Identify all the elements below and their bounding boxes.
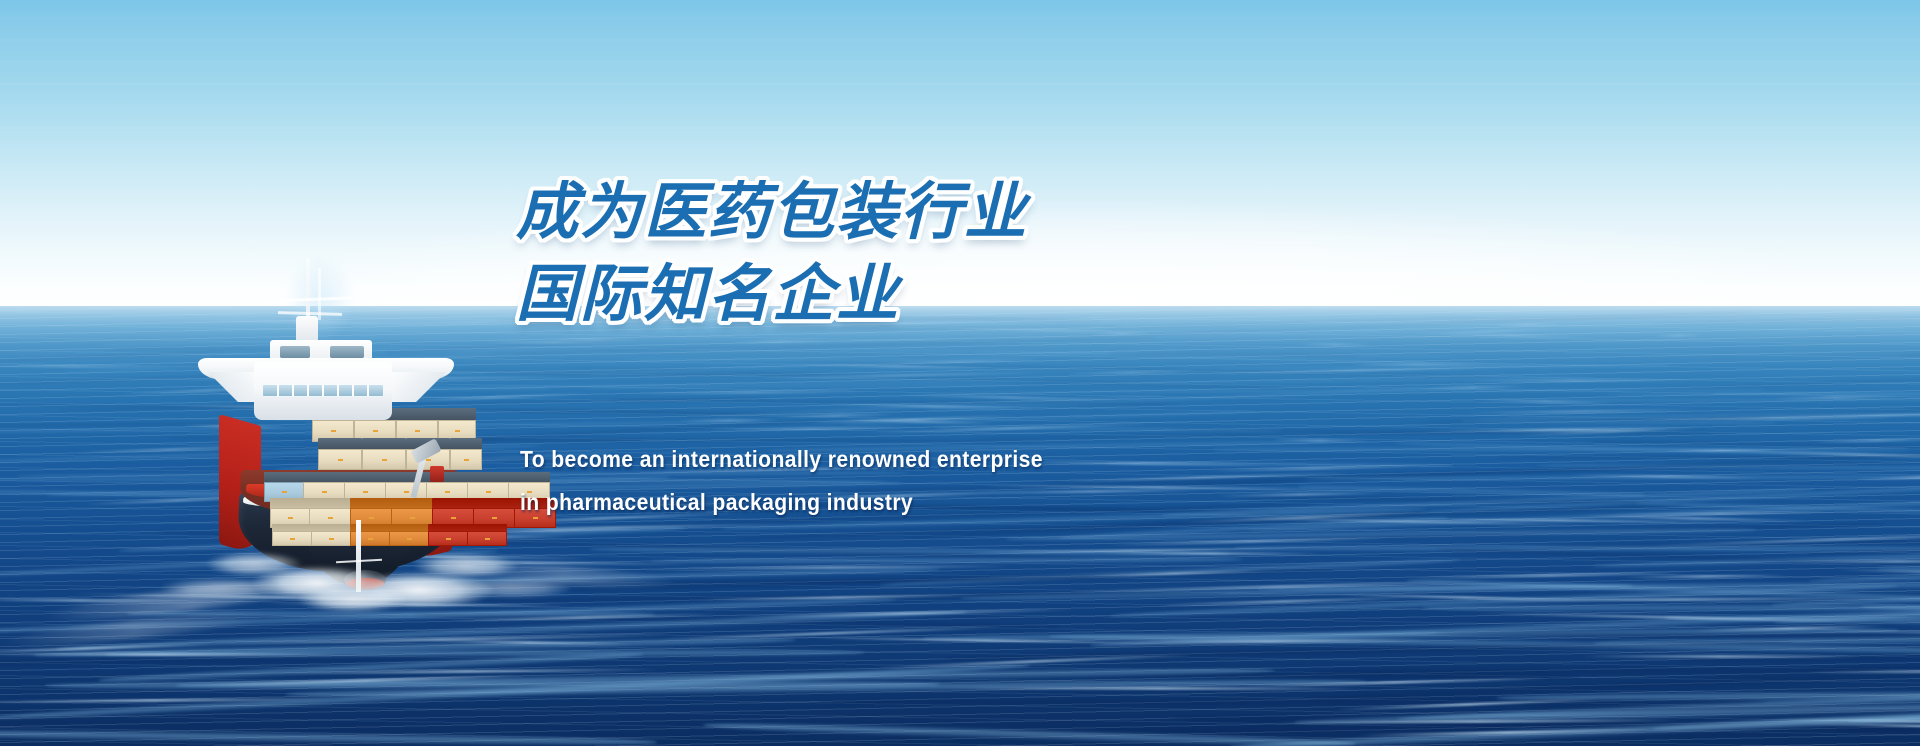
deckhouse-detail-right — [330, 346, 364, 358]
container-top — [272, 524, 312, 531]
container-top — [311, 524, 351, 531]
bridge-window-mullion — [367, 385, 369, 396]
subheadline-line-1: To become an internationally renowned en… — [520, 438, 1348, 481]
container-top — [389, 524, 429, 531]
bow-foam-center — [298, 586, 408, 612]
bridge-window-mullion — [277, 385, 279, 396]
container-marking — [464, 459, 469, 461]
headline: 成为医药包装行业 国际知名企业 — [516, 172, 1516, 336]
container-face — [318, 449, 362, 470]
container-marking — [446, 538, 451, 540]
container-face — [362, 449, 406, 470]
container-marking — [404, 491, 409, 493]
container-top — [450, 438, 482, 449]
container-top — [396, 408, 438, 420]
container-marking — [369, 517, 374, 519]
container-marking — [288, 517, 293, 519]
container-marking — [445, 491, 450, 493]
container-marking — [329, 538, 334, 540]
bridge-window-mullion — [307, 385, 309, 396]
container-marking — [426, 459, 431, 461]
bridge-wing-underside-right — [388, 372, 454, 402]
container-face — [311, 531, 351, 546]
container-top — [344, 472, 386, 482]
container-marking — [368, 538, 373, 540]
container-marking — [338, 459, 343, 461]
bridge-window-mullion — [337, 385, 339, 396]
bow-foam-outer-left — [206, 552, 302, 576]
container-marking — [363, 491, 368, 493]
wake-foam-right — [452, 578, 572, 598]
subheadline: To become an internationally renowned en… — [520, 438, 1348, 524]
container-top — [467, 524, 507, 531]
container-marking — [282, 491, 287, 493]
container-marking — [451, 517, 456, 519]
shipping-container — [318, 438, 362, 470]
deckhouse-detail-left — [280, 346, 310, 358]
bridge-window-mullion — [352, 385, 354, 396]
container-face — [428, 531, 468, 546]
shipping-container — [389, 524, 429, 546]
shipping-container — [428, 524, 468, 546]
shipping-container — [396, 408, 438, 442]
container-marking — [328, 517, 333, 519]
container-marking — [331, 430, 336, 432]
container-face — [467, 531, 507, 546]
container-marking — [455, 430, 460, 432]
container-marking — [322, 491, 327, 493]
container-top — [318, 438, 362, 449]
container-top — [270, 498, 310, 508]
container-top — [473, 498, 515, 508]
container-top — [350, 498, 392, 508]
container-top — [309, 498, 351, 508]
shipping-container — [450, 438, 482, 470]
container-marking — [486, 491, 491, 493]
shipping-container — [438, 408, 476, 442]
headline-line-2: 国际知名企业 — [516, 254, 1516, 336]
container-face — [389, 531, 429, 546]
headline-line-1: 成为医药包装行业 — [516, 172, 1516, 254]
container-marking — [415, 430, 420, 432]
hero-banner: 成为医药包装行业 国际知名企业 To become an internation… — [0, 0, 1920, 746]
container-ship — [0, 0, 1920, 746]
container-marking — [382, 459, 387, 461]
container-marking — [407, 538, 412, 540]
bridge-window-mullion — [292, 385, 294, 396]
container-marking — [485, 538, 490, 540]
bow-foam-outer-right — [414, 554, 518, 578]
deck-crane-base — [430, 466, 444, 482]
bridge-window-mullion — [322, 385, 324, 396]
wake-foam-left — [160, 578, 280, 598]
shipping-container — [272, 524, 312, 546]
container-top — [467, 472, 509, 482]
container-top — [438, 408, 476, 420]
bridge-windows — [262, 384, 384, 397]
container-top — [391, 498, 433, 508]
container-top — [362, 438, 406, 449]
container-marking — [373, 430, 378, 432]
shipping-container — [467, 524, 507, 546]
shipping-container — [311, 524, 351, 546]
subheadline-line-2: in pharmaceutical packaging industry — [520, 481, 1348, 524]
container-face — [272, 531, 312, 546]
container-top — [303, 472, 345, 482]
container-top — [432, 498, 474, 508]
container-marking — [492, 517, 497, 519]
shipping-container — [362, 438, 406, 470]
container-top — [428, 524, 468, 531]
container-marking — [410, 517, 415, 519]
container-top — [264, 472, 304, 482]
container-marking — [290, 538, 295, 540]
container-face — [450, 449, 482, 470]
